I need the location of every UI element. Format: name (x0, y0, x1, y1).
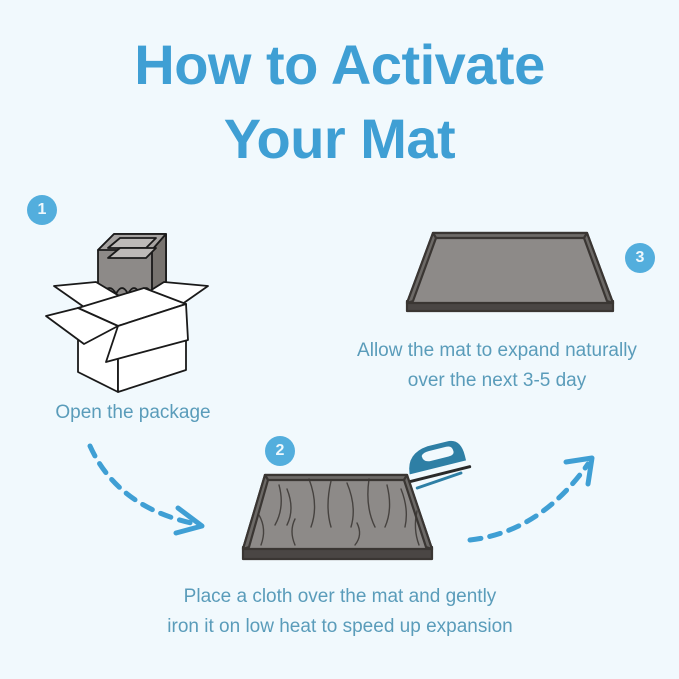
step-3-caption: Allow the mat to expand naturally over t… (315, 336, 679, 396)
mat-top-surface (407, 233, 613, 303)
wrinkled-mat-back-bevel (265, 475, 407, 480)
step-badge-3: 3 (625, 243, 655, 273)
step-2-caption: Place a cloth over the mat and gently ir… (100, 582, 580, 642)
step-2-caption-line-2: iron it on low heat to speed up expansio… (100, 612, 580, 642)
step-2-caption-line-1: Place a cloth over the mat and gently (100, 582, 580, 612)
flat-expanded-mat-illustration (395, 215, 625, 325)
title-line-2: Your Mat (0, 102, 679, 176)
arrow-step2-to-step3 (462, 440, 612, 552)
infographic-canvas: How to Activate Your Mat 1 (0, 0, 679, 679)
wrinkled-mat-top-surface (243, 475, 432, 549)
wrinkled-mat-illustration (235, 465, 440, 570)
step-3-caption-line-2: over the next 3-5 day (315, 366, 679, 396)
page-title: How to Activate Your Mat (0, 28, 679, 176)
arrow-2-dashed-path (470, 464, 588, 540)
title-line-1: How to Activate (0, 28, 679, 102)
step-1-caption: Open the package (0, 398, 266, 428)
arrow-step1-to-step2 (78, 436, 238, 546)
mat-back-bevel (433, 233, 587, 238)
step-3-caption-line-1: Allow the mat to expand naturally (315, 336, 679, 366)
step-badge-2: 2 (265, 436, 295, 466)
open-cardboard-box-illustration (40, 220, 220, 395)
